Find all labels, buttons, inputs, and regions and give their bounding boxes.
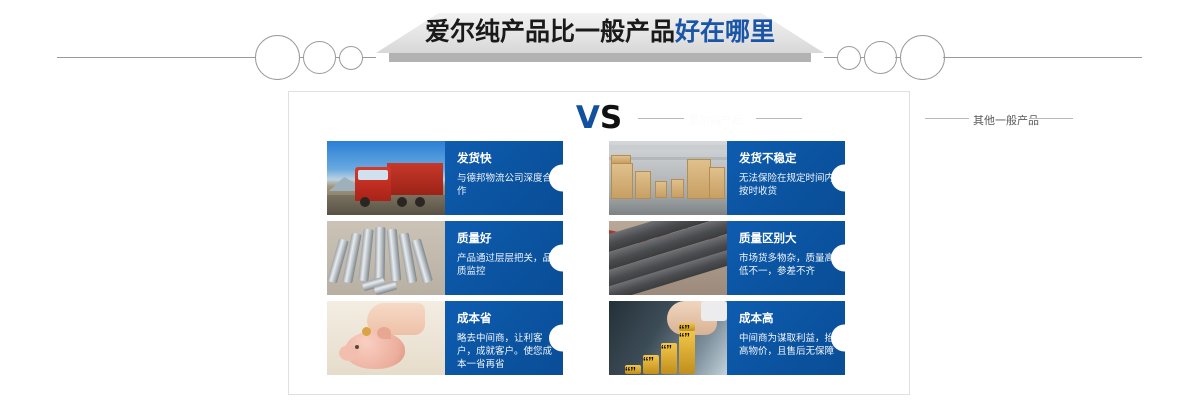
card-desc: 与德邦物流公司深度合作	[457, 172, 561, 198]
card-desc: 中间商为谋取利益，抬高物价，且售后无保障	[739, 332, 843, 358]
piggy-bank-photo	[327, 301, 445, 375]
header-connector-right-1	[824, 57, 838, 58]
metal-cylinders-photo	[327, 221, 445, 295]
card-title: 发货快	[457, 152, 563, 165]
header-circle-right-medium	[864, 41, 897, 74]
header-rule-left	[57, 57, 257, 58]
drawback-card-delivery[interactable]: 发货不稳定 无法保险在规定时间内按时收货	[609, 141, 845, 215]
header-circle-right-large	[900, 35, 945, 80]
advantage-card-delivery[interactable]: 发货快 与德邦物流公司深度合作	[327, 141, 563, 215]
header-connector-left-3	[362, 57, 376, 58]
other-products-label: 其他一般产品	[973, 112, 1039, 128]
header-circle-right-small	[837, 46, 861, 70]
advantage-card-body: 成本省 略去中间商，让利客户，成就客户。使您成本一省再省	[445, 301, 563, 375]
page-title-highlight: 好在哪里	[675, 17, 775, 46]
card-title: 成本高	[739, 312, 845, 325]
card-title: 质量好	[457, 232, 563, 245]
drawback-card-quality[interactable]: 质量区别大 市场货多物杂，质量高低不一，参差不齐	[609, 221, 845, 295]
pedestal-base	[389, 53, 810, 62]
page-title-main: 爱尔纯产品比一般产品	[425, 17, 675, 46]
drawback-card-body: 质量区别大 市场货多物杂，质量高低不一，参差不齐	[727, 221, 845, 295]
gold-coin-stack-photo	[609, 301, 727, 375]
card-desc: 产品通过层层把关，品质监控	[457, 252, 561, 278]
vs-badge: VS	[288, 100, 910, 136]
gray-pipes-photo	[609, 221, 727, 295]
drawback-card-body: 成本高 中间商为谋取利益，抬高物价，且售后无保障	[727, 301, 845, 375]
warehouse-cartons-photo	[609, 141, 727, 215]
card-title: 质量区别大	[739, 232, 845, 245]
advantage-card-cost[interactable]: 成本省 略去中间商，让利客户，成就客户。使您成本一省再省	[327, 301, 563, 375]
card-title: 成本省	[457, 312, 563, 325]
card-desc: 无法保险在规定时间内按时收货	[739, 172, 843, 198]
page-header: 爱尔纯产品比一般产品好在哪里	[0, 0, 1200, 88]
advantage-card-quality[interactable]: 质量好 产品通过层层把关，品质监控	[327, 221, 563, 295]
advantage-card-body: 质量好 产品通过层层把关，品质监控	[445, 221, 563, 295]
advantage-card-body: 发货快 与德邦物流公司深度合作	[445, 141, 563, 215]
drawback-card-cost[interactable]: 成本高 中间商为谋取利益，抬高物价，且售后无保障	[609, 301, 845, 375]
card-title: 发货不稳定	[739, 152, 845, 165]
vs-letter-v: V	[576, 100, 600, 136]
red-truck-photo	[327, 141, 445, 215]
right-label-rule-start	[925, 118, 969, 119]
card-desc: 市场货多物杂，质量高低不一，参差不齐	[739, 252, 843, 278]
vs-letter-s: S	[600, 100, 622, 136]
right-label-rule-end	[1029, 118, 1073, 119]
header-rule-right	[943, 57, 1142, 58]
card-desc: 略去中间商，让利客户，成就客户。使您成本一省再省	[457, 332, 561, 371]
header-circle-left-small	[339, 46, 363, 70]
our-products-column: 发货快 与德邦物流公司深度合作 质量好 产品通过层层把关，品质监控	[327, 141, 563, 381]
page-title: 爱尔纯产品比一般产品好在哪里	[0, 12, 1200, 48]
drawback-card-body: 发货不稳定 无法保险在规定时间内按时收货	[727, 141, 845, 215]
other-products-column: 发货不稳定 无法保险在规定时间内按时收货 质量区别大 市场货多物杂，质量高低不一…	[609, 141, 845, 381]
